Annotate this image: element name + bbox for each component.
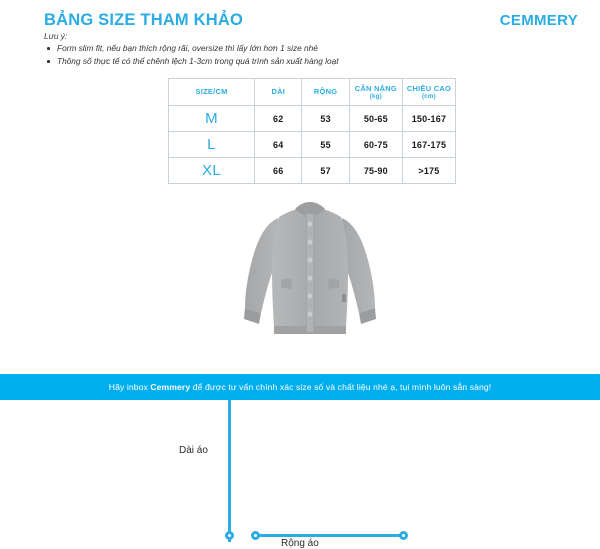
size-chart-page: BẢNG SIZE THAM KHẢO CEMMERY Lưu ý: Form …: [0, 0, 600, 400]
cell-rong: 57: [302, 158, 349, 184]
table-row: L 64 55 60-75 167-175: [169, 132, 456, 158]
cell-can-nang: 60-75: [349, 132, 402, 158]
cell-rong: 53: [302, 106, 349, 132]
width-guide-line: [255, 534, 403, 537]
column-header-chieu-cao-label: CHIỀU CAO: [407, 84, 451, 93]
cell-size: L: [169, 132, 255, 158]
cell-rong: 55: [302, 132, 349, 158]
column-header-chieu-cao: CHIỀU CAO (cm): [402, 79, 455, 106]
shirt-illustration-icon: [243, 198, 377, 340]
cell-can-nang: 75-90: [349, 158, 402, 184]
size-table: SIZE/CM DÀI RỘNG CÂN NẶNG (kg) CHIỀU CAO: [168, 78, 456, 184]
column-header-size: SIZE/CM: [169, 79, 255, 106]
length-guide-line: [228, 395, 231, 542]
cell-can-nang: 50-65: [349, 106, 402, 132]
table-row: M 62 53 50-65 150-167: [169, 106, 456, 132]
cell-dai: 66: [255, 158, 302, 184]
table-row: XL 66 57 75-90 >175: [169, 158, 456, 184]
cell-chieu-cao: 167-175: [402, 132, 455, 158]
length-guide-bottom-handle: [225, 531, 234, 540]
note-item: Form slim fit, nếu bạn thích rộng rãi, o…: [44, 42, 474, 55]
width-measure-label: Rộng áo: [281, 538, 319, 549]
column-header-chieu-cao-unit: (cm): [403, 93, 455, 101]
cell-size: M: [169, 106, 255, 132]
column-header-can-nang: CÂN NẶNG (kg): [349, 79, 402, 106]
measurement-diagram: Dài áo Rộng áo: [0, 190, 600, 370]
cell-chieu-cao: >175: [402, 158, 455, 184]
column-header-rong: RỘNG: [302, 79, 349, 106]
cell-chieu-cao: 150-167: [402, 106, 455, 132]
size-table-container: SIZE/CM DÀI RỘNG CÂN NẶNG (kg) CHIỀU CAO: [168, 78, 456, 184]
column-header-rong-label: RỘNG: [314, 87, 337, 96]
brand-logo: CEMMERY: [500, 12, 578, 29]
column-header-dai-label: DÀI: [271, 87, 285, 96]
column-header-size-label: SIZE/CM: [196, 87, 228, 96]
banner-text-suffix: để được tư vấn chính xác size số và chất…: [190, 382, 491, 392]
length-measure-label: Dài áo: [179, 445, 208, 456]
width-guide-right-handle: [399, 531, 408, 540]
banner-text: Hãy inbox Cemmery để được tư vấn chính x…: [109, 382, 491, 392]
notes-list: Form slim fit, nếu bạn thích rộng rãi, o…: [44, 42, 474, 68]
column-header-dai: DÀI: [255, 79, 302, 106]
size-table-head: SIZE/CM DÀI RỘNG CÂN NẶNG (kg) CHIỀU CAO: [169, 79, 456, 106]
width-guide-left-handle: [251, 531, 260, 540]
page-title: BẢNG SIZE THAM KHẢO: [44, 11, 243, 30]
bottom-banner: Hãy inbox Cemmery để được tư vấn chính x…: [0, 374, 600, 400]
notes-block: Lưu ý: Form slim fit, nếu bạn thích rộng…: [44, 31, 474, 68]
column-header-can-nang-unit: (kg): [350, 93, 402, 101]
banner-brand: Cemmery: [150, 382, 190, 392]
cell-dai: 62: [255, 106, 302, 132]
table-header-row: SIZE/CM DÀI RỘNG CÂN NẶNG (kg) CHIỀU CAO: [169, 79, 456, 106]
banner-text-prefix: Hãy inbox: [109, 382, 151, 392]
cell-dai: 64: [255, 132, 302, 158]
notes-label: Lưu ý:: [44, 31, 474, 41]
column-header-can-nang-label: CÂN NẶNG: [355, 84, 397, 93]
size-table-body: M 62 53 50-65 150-167 L 64 55 60-75 167-…: [169, 106, 456, 184]
note-item: Thông số thực tế có thể chênh lệch 1-3cm…: [44, 55, 474, 68]
cell-size: XL: [169, 158, 255, 184]
